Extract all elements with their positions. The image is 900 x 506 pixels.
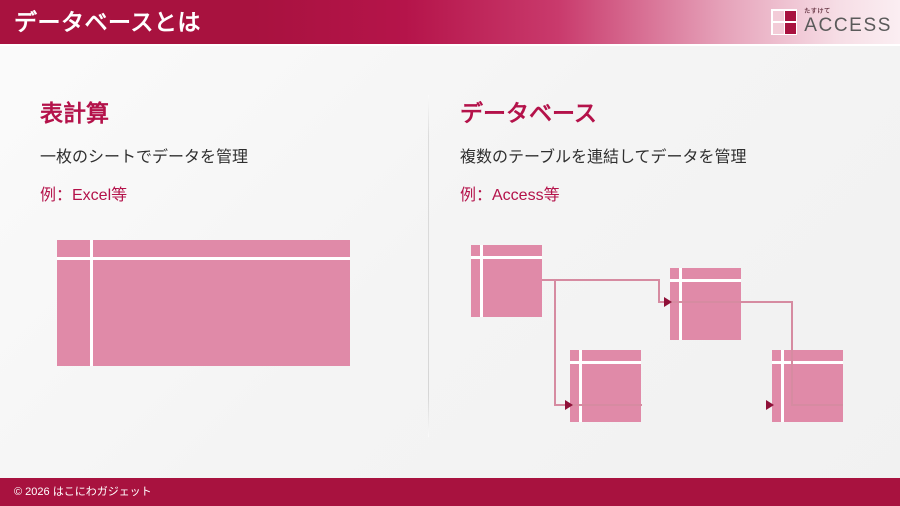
brand-logo: たすけて ACCESS: [771, 6, 892, 38]
database-table-1: [471, 245, 542, 317]
database-table-3: [670, 268, 741, 340]
header-underline: [0, 44, 900, 46]
table-1-column-divider: [480, 245, 483, 317]
database-example: 例：Access等: [460, 186, 560, 206]
spreadsheet-graphic: [57, 240, 350, 366]
arrow-head-icon-to-table-2: [565, 400, 573, 410]
brand-text: たすけて ACCESS: [804, 9, 892, 35]
spreadsheet-heading: 表計算: [40, 100, 109, 127]
arrow-head-icon-to-table-4: [766, 400, 774, 410]
database-graphic: [455, 230, 865, 435]
spreadsheet-description: 一枚のシートでデータを管理: [40, 148, 248, 168]
connector-table1-to-table3-segment-2: [658, 279, 660, 303]
footer-copyright: © 2026 はこにわガジェット: [14, 485, 152, 499]
column-divider: [428, 95, 429, 437]
connector-table1-to-table2-segment-1: [554, 279, 556, 406]
spreadsheet-first-column-divider: [90, 240, 93, 366]
page-title: データベースとは: [14, 9, 201, 36]
arrow-head-icon-to-table-3: [664, 297, 672, 307]
connector-table3-to-table4-segment-1: [741, 301, 793, 303]
spreadsheet-example: 例：Excel等: [40, 186, 127, 206]
spreadsheet-header-row-divider: [57, 257, 350, 260]
table-4-column-divider: [781, 350, 784, 422]
database-description: 複数のテーブルを連結してデータを管理: [460, 148, 747, 168]
database-table-4: [772, 350, 843, 422]
database-heading: データベース: [460, 100, 597, 127]
connector-table3-to-table4-segment-2: [791, 301, 793, 406]
connector-table3-to-table4-segment-3: [791, 404, 843, 406]
table-3-column-divider: [679, 268, 682, 340]
logo-cell-bottom-left: [773, 23, 784, 34]
brand-word: ACCESS: [804, 16, 892, 35]
database-table-2: [570, 350, 641, 422]
logo-cell-bottom-right: [785, 23, 796, 34]
connector-table1-to-table3-segment-1: [542, 279, 660, 281]
slide-canvas: データベースとは たすけて ACCESS 表計算 一枚のシートでデータを管理 例…: [0, 0, 900, 506]
logo-cell-top-right: [785, 11, 796, 22]
access-grid-logo-icon: [771, 9, 797, 35]
logo-cell-top-left: [773, 11, 784, 22]
table-2-column-divider: [579, 350, 582, 422]
footer-bar: © 2026 はこにわガジェット: [0, 478, 900, 506]
